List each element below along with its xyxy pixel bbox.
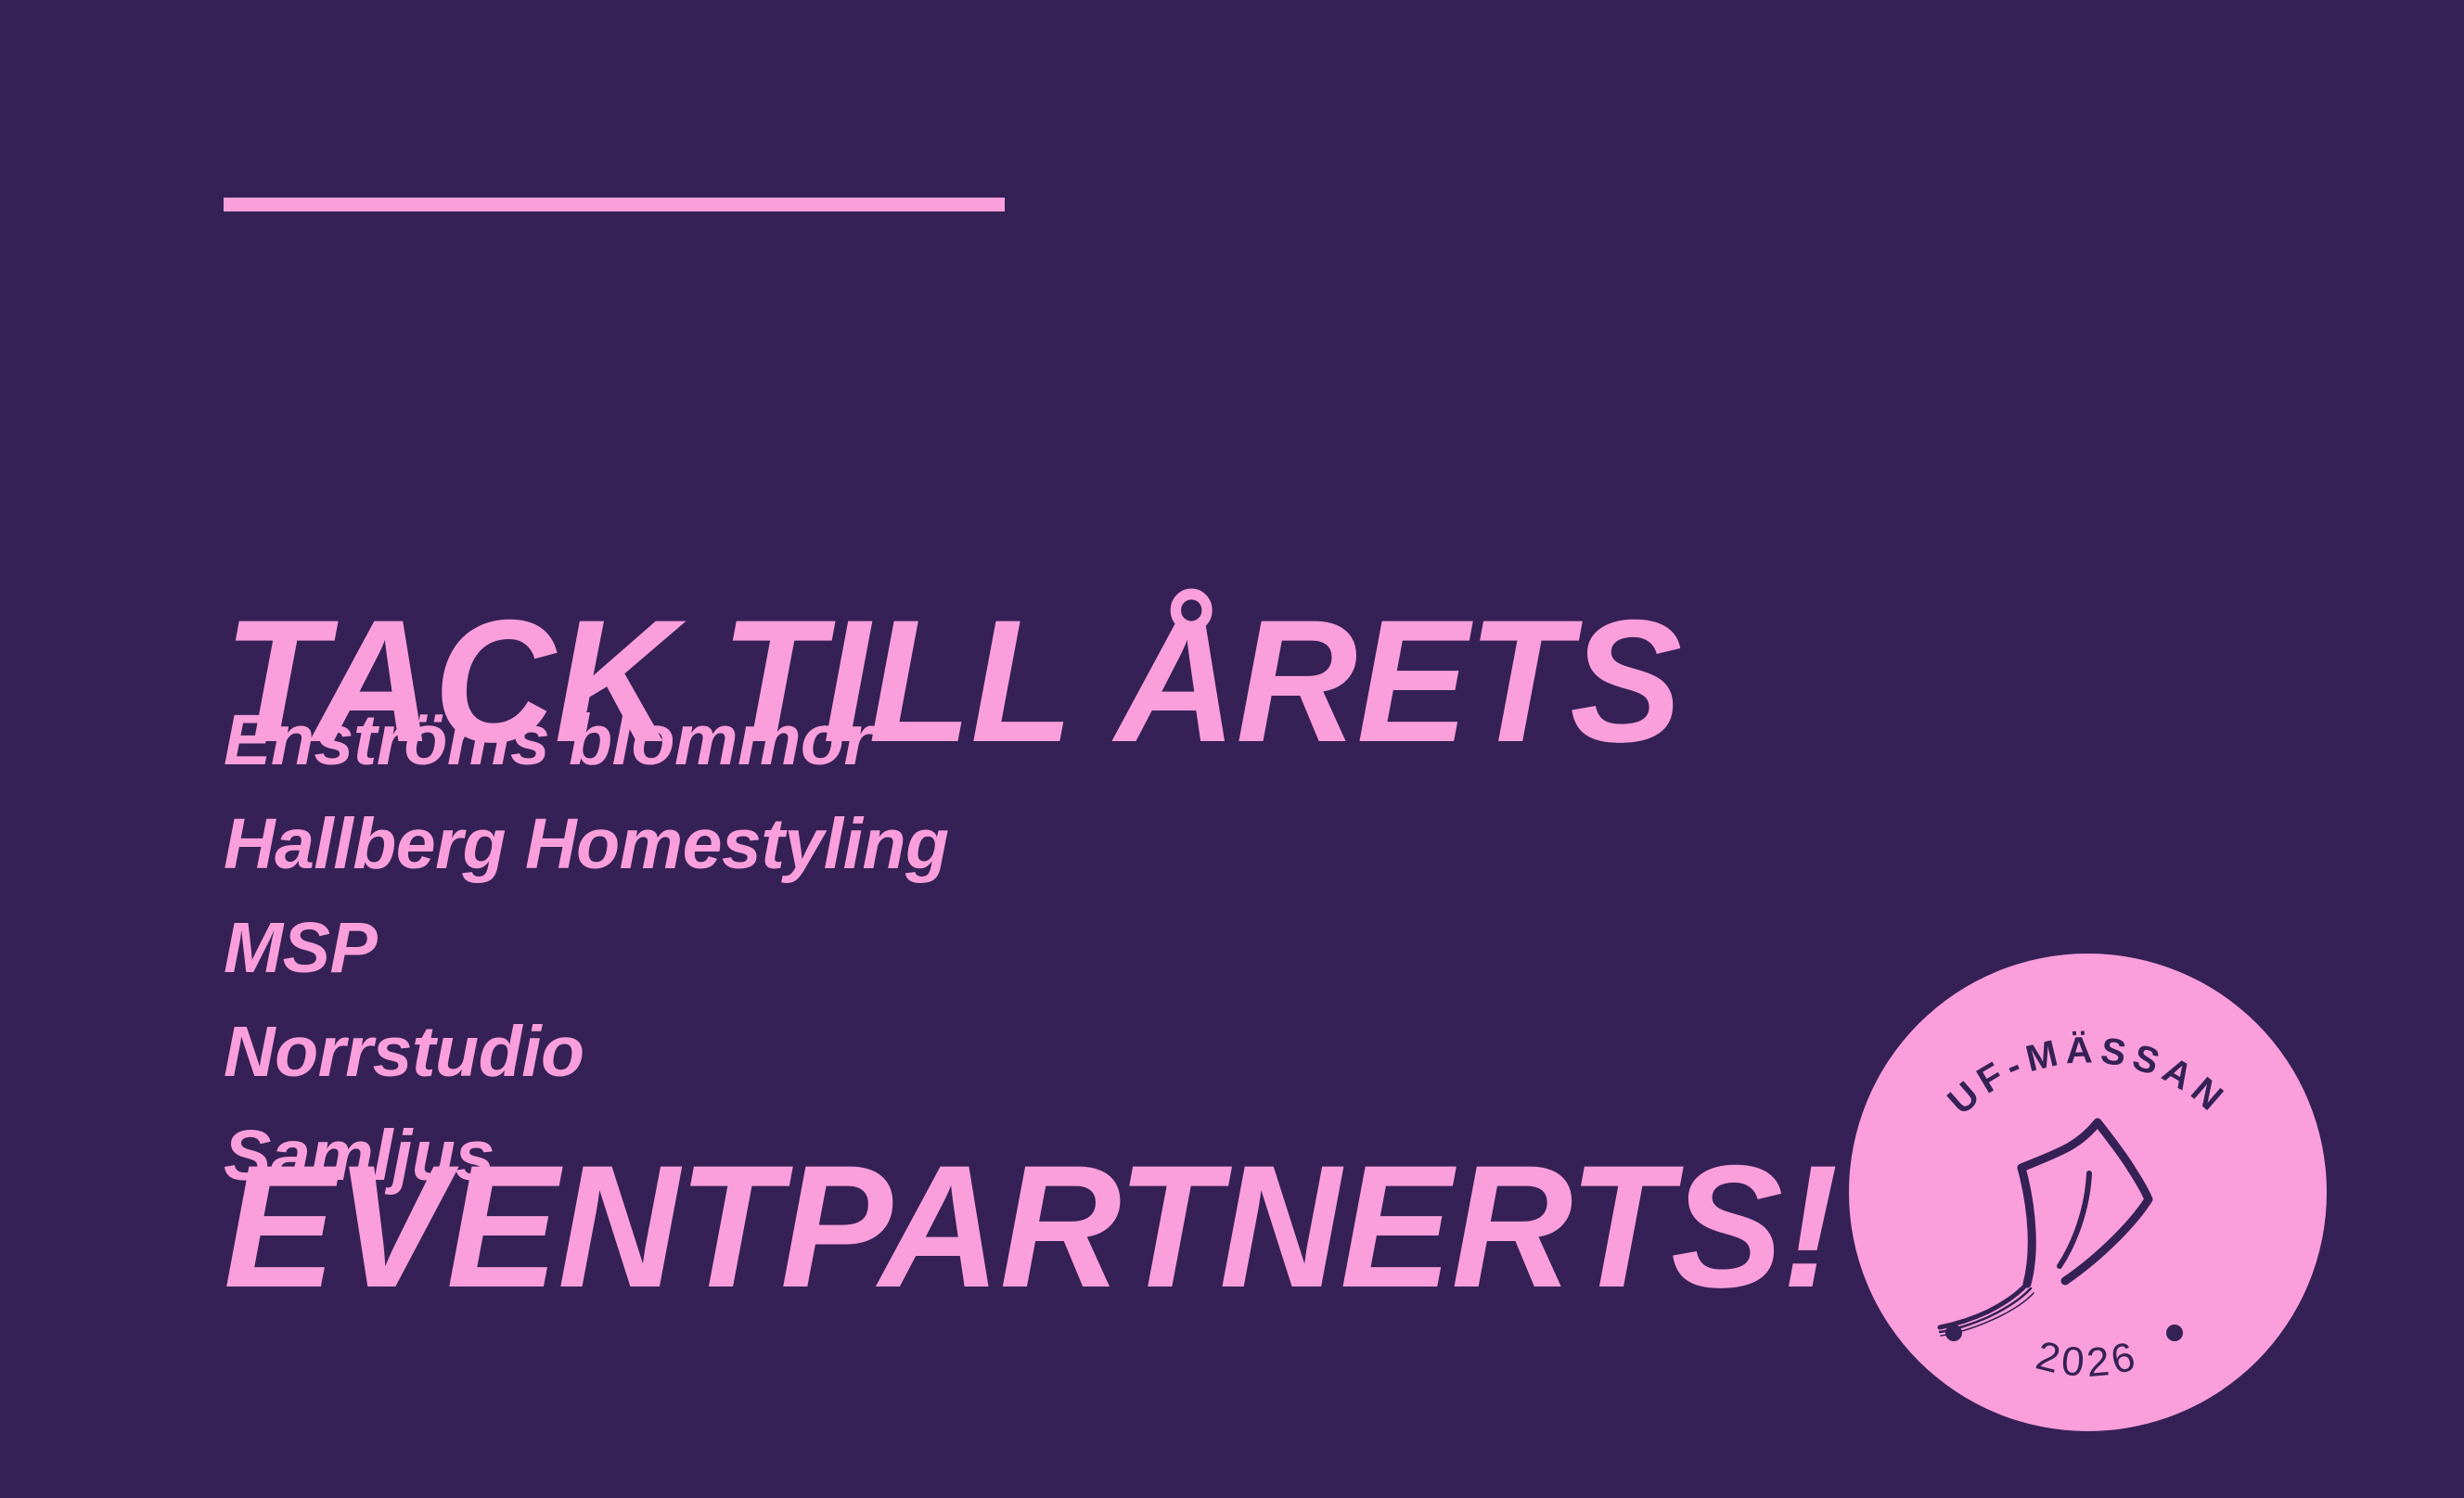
- top-divider-rule: [224, 198, 1005, 211]
- badge-dot-left-icon: [1945, 1325, 1962, 1341]
- partner-list: Enströms blommor Hallberg Homestyling MS…: [224, 688, 1615, 1208]
- slide-canvas: TACK TILL ÅRETS EVENTPARTNERTS! Enströms…: [0, 0, 2464, 1498]
- list-item: Hallberg Homestyling: [224, 792, 1615, 896]
- list-item: Norrstudio: [224, 1000, 1615, 1104]
- uf-massan-badge-logo: UF-MÄSSAN 2026: [1849, 954, 2327, 1431]
- list-item: Samljus: [224, 1104, 1615, 1208]
- badge-dot-right-icon: [2166, 1325, 2183, 1341]
- list-item: Enströms blommor: [224, 688, 1615, 792]
- list-item: MSP: [224, 896, 1615, 1000]
